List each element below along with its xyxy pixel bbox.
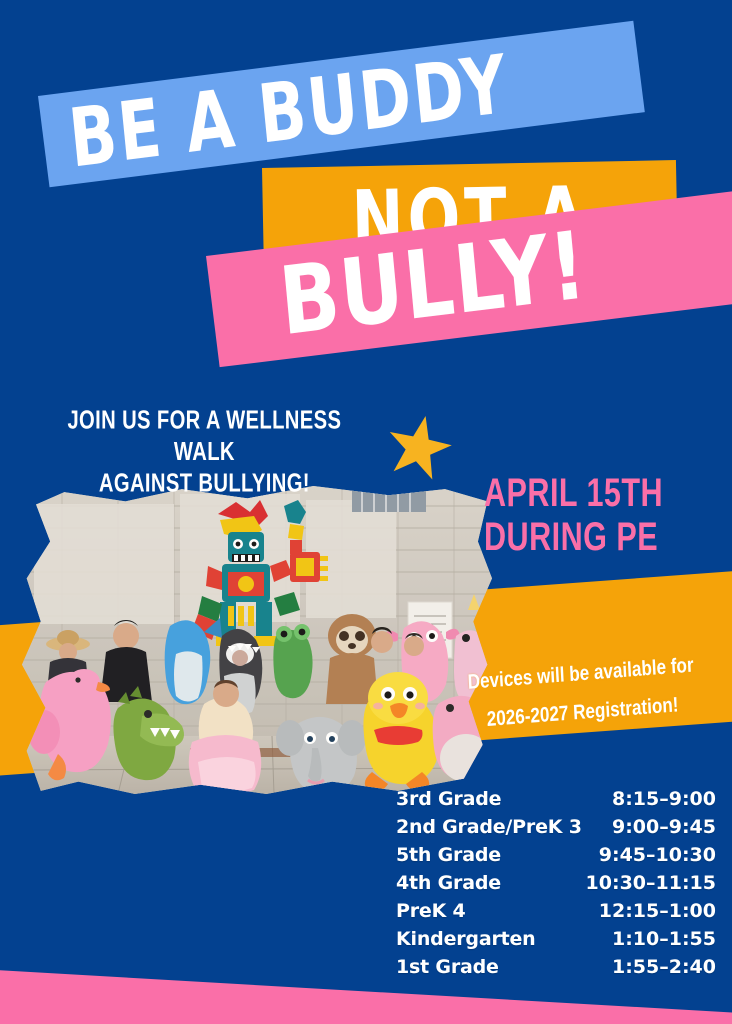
schedule-row: 3rd Grade 8:15–9:00 (396, 788, 716, 816)
grade-schedule-list: 3rd Grade 8:15–9:00 2nd Grade/PreK 3 9:0… (396, 788, 716, 984)
schedule-row: Kindergarten 1:10–1:55 (396, 928, 716, 956)
poster-canvas: BE A BUDDY NOT A BULLY! JOIN US FOR A WE… (0, 0, 732, 1024)
schedule-time-value: 1:10–1:55 (612, 928, 716, 950)
date-line-2: DURING PE (484, 515, 663, 558)
schedule-time-value: 1:55–2:40 (612, 956, 716, 978)
subtitle-line-1: JOIN US FOR A WELLNESS WALK (46, 404, 363, 467)
schedule-row: 1st Grade 1:55–2:40 (396, 956, 716, 984)
schedule-time-value: 12:15–1:00 (599, 900, 716, 922)
schedule-time-value: 9:45–10:30 (599, 844, 716, 866)
schedule-time-value: 9:00–9:45 (612, 816, 716, 838)
date-line-1: APRIL 15TH (484, 472, 663, 515)
subtitle: JOIN US FOR A WELLNESS WALK AGAINST BULL… (46, 404, 363, 498)
star-icon (380, 408, 458, 486)
schedule-row: 4th Grade 10:30–11:15 (396, 872, 716, 900)
subtitle-line-2: AGAINST BULLYING! (46, 467, 363, 498)
schedule-time-value: 10:30–11:15 (586, 872, 716, 894)
devices-registration-note: Devices will be available for 2026-2027 … (462, 646, 701, 741)
schedule-grade-label: 5th Grade (396, 844, 501, 866)
schedule-grade-label: PreK 4 (396, 900, 466, 922)
costume-group-photo (22, 486, 492, 794)
schedule-grade-label: 1st Grade (396, 956, 499, 978)
schedule-row: PreK 4 12:15–1:00 (396, 900, 716, 928)
schedule-grade-label: 3rd Grade (396, 788, 501, 810)
schedule-row: 5th Grade 9:45–10:30 (396, 844, 716, 872)
photo-illustration (22, 486, 492, 794)
schedule-grade-label: 2nd Grade/PreK 3 (396, 816, 582, 838)
event-date: APRIL 15TH DURING PE (484, 472, 663, 559)
schedule-row: 2nd Grade/PreK 3 9:00–9:45 (396, 816, 716, 844)
schedule-grade-label: 4th Grade (396, 872, 501, 894)
headline-line-1: BE A BUDDY (65, 36, 513, 186)
schedule-time-value: 8:15–9:00 (612, 788, 716, 810)
schedule-grade-label: Kindergarten (396, 928, 536, 950)
